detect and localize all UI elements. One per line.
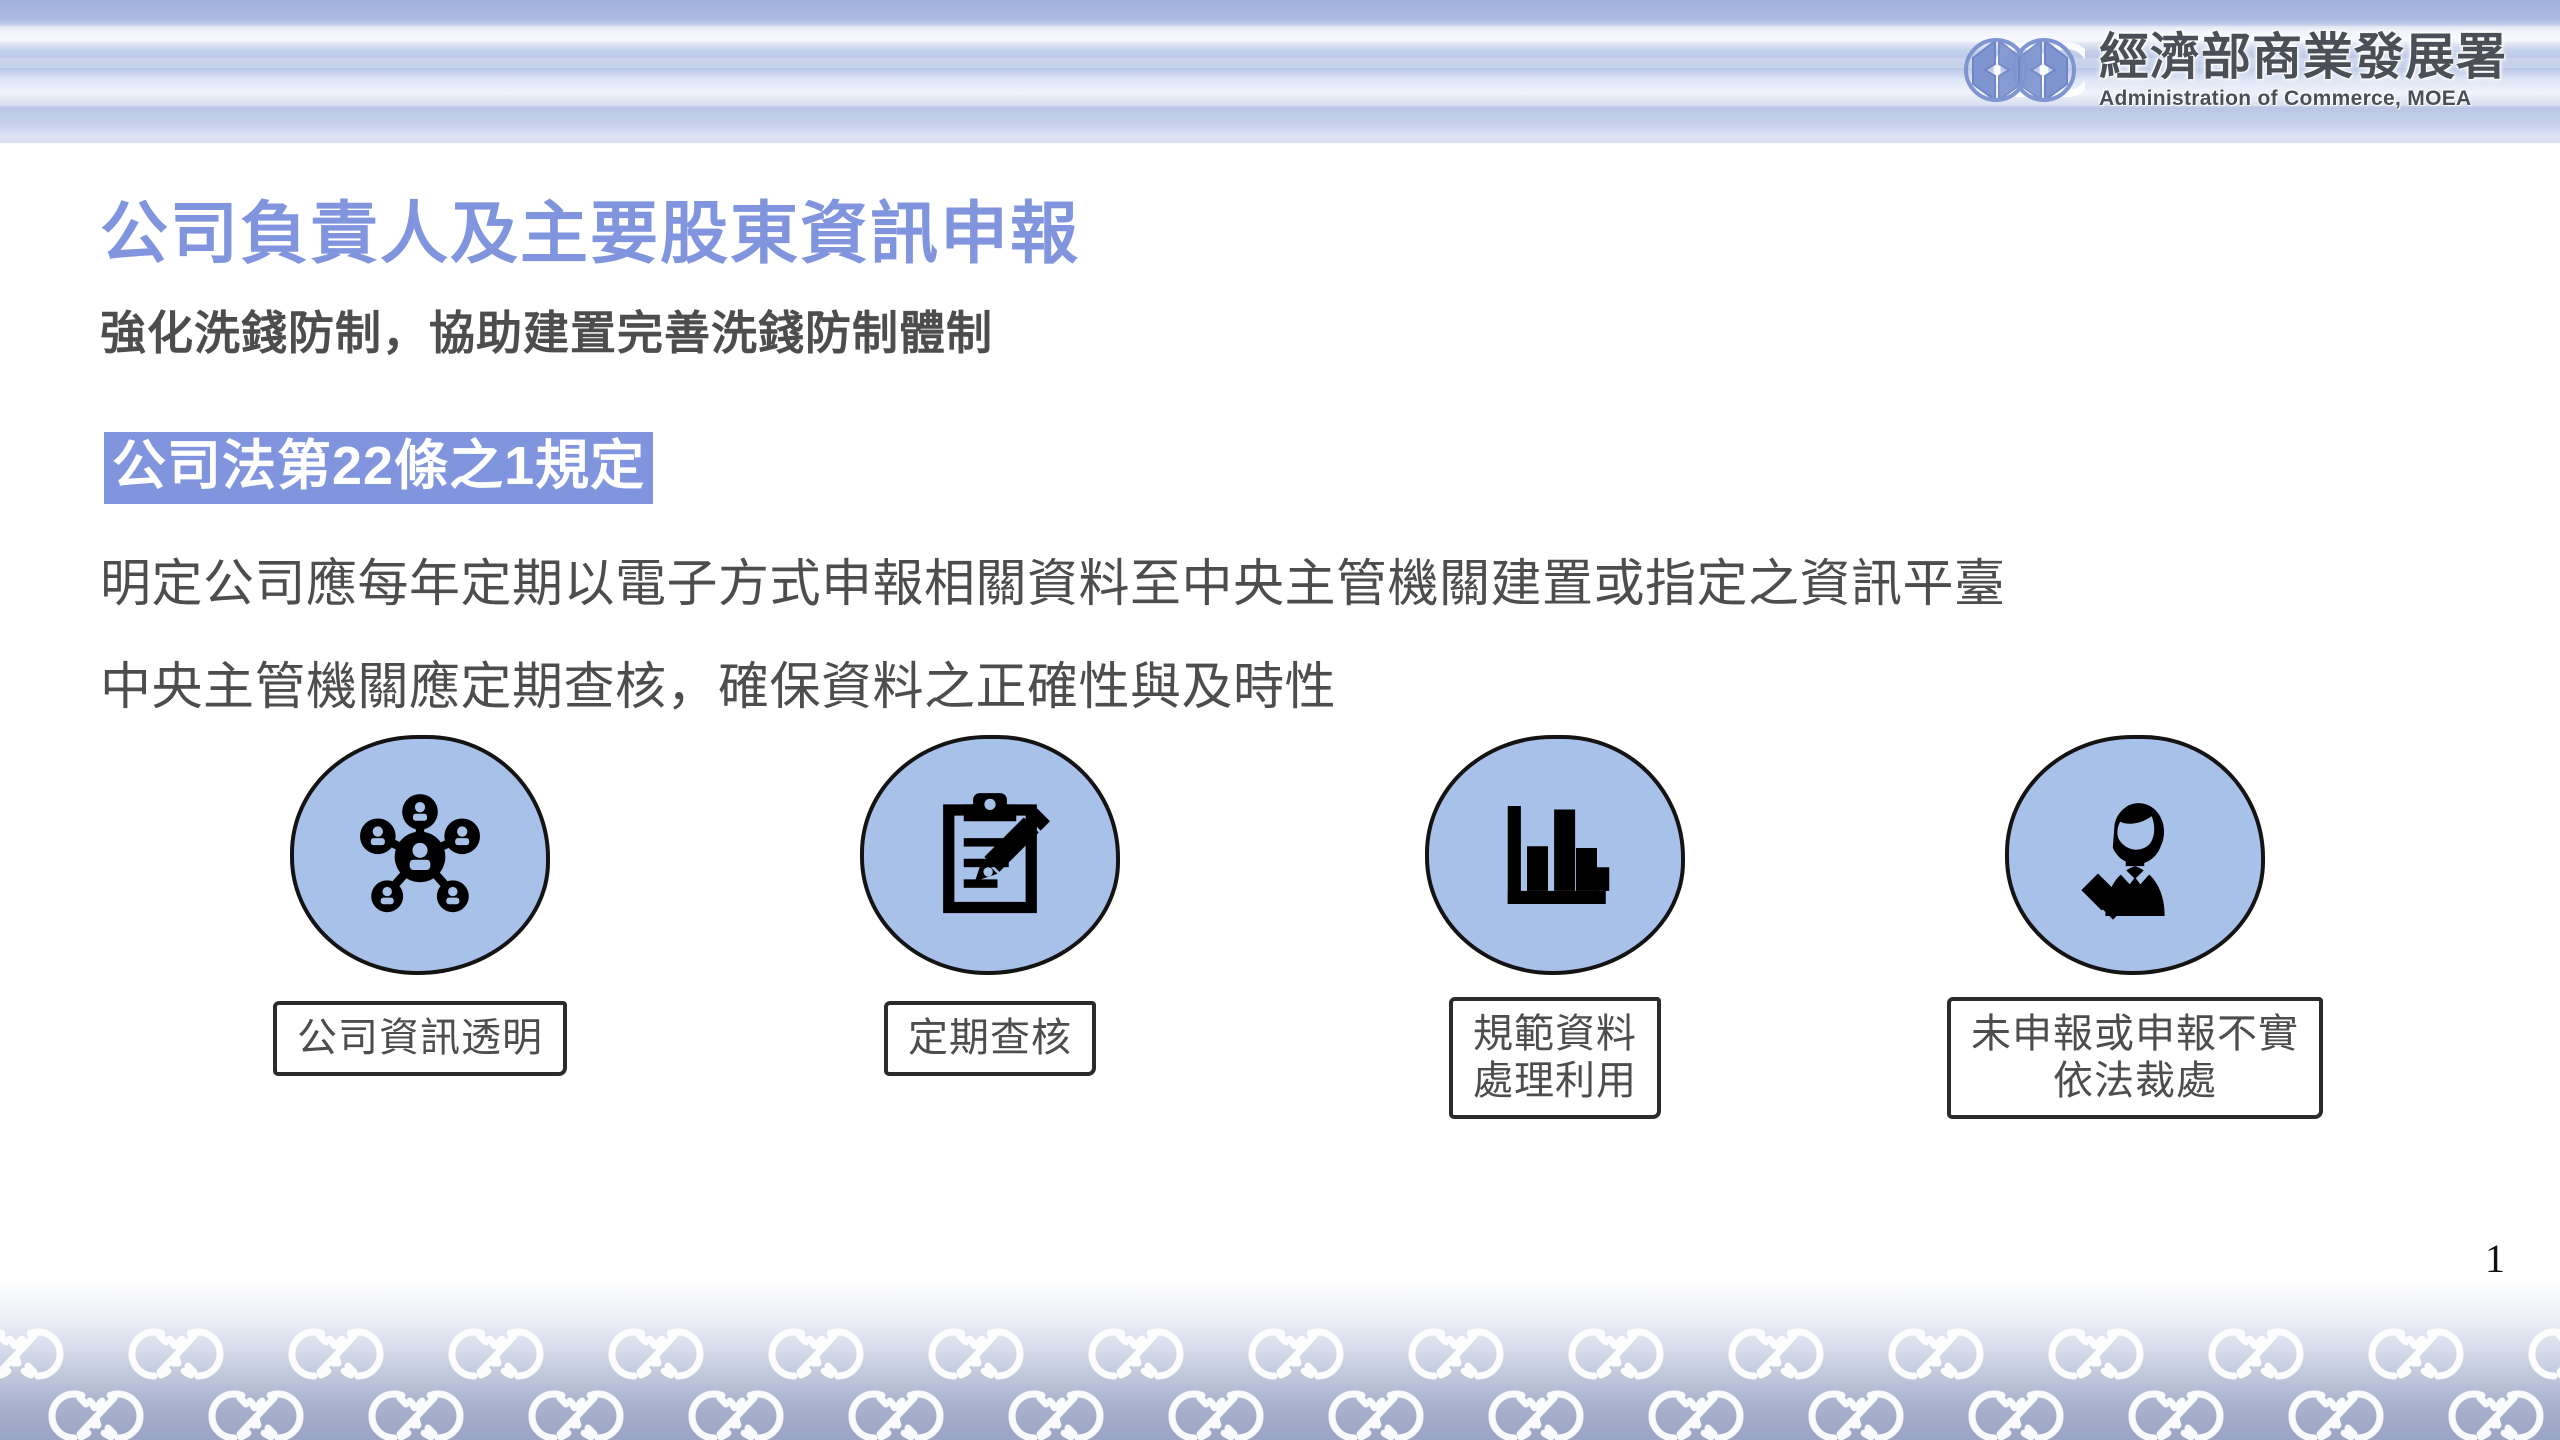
logo-text: 經濟部商業發展署 Administration of Commerce, MOE…	[2099, 32, 2507, 109]
icon-label-3-line-2: 處理利用	[1473, 1058, 1637, 1105]
logo-title-en: Administration of Commerce, MOEA	[2099, 88, 2507, 109]
icon-label-2: 定期查核	[884, 1001, 1096, 1076]
icon-circle-3	[1425, 735, 1685, 975]
icon-label-2-line-1: 定期查核	[908, 1015, 1072, 1062]
page-subtitle: 強化洗錢防制，協助建置完善洗錢防制體制	[100, 297, 993, 363]
logo-title-zh: 經濟部商業發展署	[2099, 32, 2507, 82]
icon-label-3: 規範資料 處理利用	[1449, 997, 1661, 1119]
icon-item-penalty: 未申報或申報不實 依法裁處	[1965, 735, 2305, 1119]
icon-label-1: 公司資訊透明	[273, 1001, 567, 1076]
icon-label-4: 未申報或申報不實 依法裁處	[1947, 997, 2323, 1119]
moea-infinity-logo-icon	[1955, 18, 2085, 123]
icon-label-4-line-1: 未申報或申報不實	[1971, 1011, 2299, 1058]
icon-circle-2	[860, 735, 1120, 975]
judge-gavel-person-icon	[2061, 781, 2209, 929]
infinity-motif-pattern	[0, 1280, 2560, 1440]
icon-item-periodic-audit: 定期查核	[820, 735, 1160, 1076]
icon-label-1-line-1: 公司資訊透明	[297, 1015, 543, 1062]
bar-chart-icon	[1485, 785, 1625, 925]
people-network-icon	[345, 780, 495, 930]
icon-item-company-transparency: 公司資訊透明	[250, 735, 590, 1076]
icon-circle-1	[290, 735, 550, 975]
body-line-2: 中央主管機關應定期查核，確保資料之正確性與及時性	[100, 645, 1336, 719]
body-line-1: 明定公司應每年定期以電子方式申報相關資料至中央主管機關建置或指定之資訊平臺	[100, 542, 2006, 616]
icon-item-data-regulation: 規範資料 處理利用	[1385, 735, 1725, 1119]
agency-logo: 經濟部商業發展署 Administration of Commerce, MOE…	[1955, 10, 2555, 130]
icon-label-3-line-1: 規範資料	[1473, 1011, 1637, 1058]
icon-label-4-line-2: 依法裁處	[1971, 1058, 2299, 1105]
icon-row: 公司資訊透明	[0, 735, 2560, 1175]
clipboard-pencil-icon	[915, 780, 1065, 930]
page-title: 公司負責人及主要股東資訊申報	[100, 178, 1080, 277]
icon-circle-4	[2005, 735, 2265, 975]
footer-band	[0, 1280, 2560, 1440]
law-reference-badge: 公司法第22條之1規定	[104, 432, 653, 504]
banner-bottom-line	[0, 138, 2560, 143]
page-number: 1	[2485, 1235, 2505, 1282]
